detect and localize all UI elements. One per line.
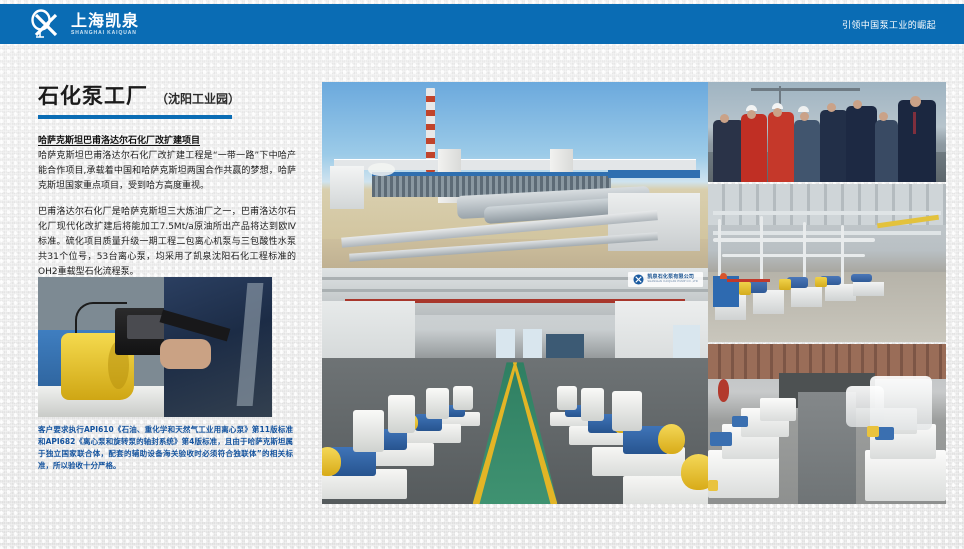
yellow-coupling-guard-shape [708, 480, 718, 491]
pump-column-shape [426, 388, 449, 419]
blue-motor-shape [851, 274, 872, 282]
roof-truss-shape [322, 289, 708, 292]
project-lead-heading: 哈萨克斯坦巴甫洛达尔石化厂改扩建项目 [38, 133, 296, 146]
gantry-beam-shape [751, 88, 860, 91]
body-paragraph-1: 哈萨克斯坦巴甫洛达尔石化厂改扩建工程是“一带一路”下中哈产能合作项目,承载着中国… [38, 149, 296, 194]
plastic-wrap-shape [846, 386, 884, 428]
person-figure [875, 120, 899, 182]
refinery-plant-photo[interactable] [322, 82, 708, 274]
horizontal-pipe-shape [713, 238, 875, 242]
pump-column-shape [353, 410, 384, 452]
watermark-text-en: SHANGHAI KAIQUAN PUMP CO.,LTD [647, 281, 698, 284]
title-underline-rule [38, 115, 232, 119]
yellow-coupling-guard-shape [815, 277, 827, 286]
pump-skid [825, 284, 856, 301]
page-title-main: 石化泵工厂 [38, 80, 148, 110]
window-shape [496, 329, 515, 357]
yellow-coupling-guard-shape [779, 279, 791, 290]
left-text-column: 石化泵工厂 （沈阳工业园） 哈萨克斯坦巴甫洛达尔石化厂改扩建项目 哈萨克斯坦巴甫… [38, 80, 296, 280]
probe-cable-shape [75, 302, 126, 333]
factory-assembly-line-photo[interactable]: 凯泉石化泵有限公司 SHANGHAI KAIQUAN PUMP CO.,LTD [322, 268, 708, 504]
silo-shape [330, 166, 365, 208]
ceiling-beam-shape [713, 211, 941, 215]
photo-caption-blue: 客户要求执行API610《石油、重化学和天然气工业用离心泵》第11版标准和API… [38, 424, 293, 472]
ceiling-beam-shape [713, 231, 941, 235]
person-head-shape [800, 112, 809, 121]
header-tagline: 引领中国泵工业的崛起 [842, 18, 936, 31]
brand-logo[interactable]: 上海凯泉 SHANGHAI KAIQUAN [30, 9, 139, 39]
kaiquan-watermark: 凯泉石化泵有限公司 SHANGHAI KAIQUAN PUMP CO.,LTD [628, 272, 703, 287]
far-wall-panel-shape [546, 334, 585, 358]
window-shape [523, 329, 542, 357]
body-paragraph-2: 巴甫洛达尔石化厂是哈萨克斯坦三大炼油厂之一，巴甫洛达尔石化厂现代化改扩建后将能加… [38, 205, 296, 280]
person-figure-red-uniform [741, 114, 767, 182]
slide-page: 上海凯泉 SHANGHAI KAIQUAN 引领中国泵工业的崛起 石化泵工厂 （… [0, 0, 964, 549]
person-head-shape [720, 114, 729, 123]
pump-installation-photo[interactable] [708, 184, 946, 342]
page-title-sub: （沈阳工业园） [156, 90, 240, 107]
blue-motor-shape [710, 432, 731, 446]
yellow-coupling-guard-shape [739, 282, 751, 295]
page-title: 石化泵工厂 （沈阳工业园） [38, 80, 296, 110]
yellow-coupling-guard-shape [867, 426, 879, 437]
necktie-shape [913, 112, 916, 134]
pump-column-shape [453, 386, 472, 410]
horizontal-pipe-shape [722, 254, 865, 257]
kaiquan-logo-icon [30, 9, 64, 39]
pump-column-shape [612, 391, 643, 431]
brand-name-cn: 上海凯泉 [71, 13, 139, 29]
person-figure-suit [898, 100, 936, 182]
pump-skid [753, 290, 784, 314]
yellow-coupling-guard-shape [681, 454, 708, 489]
pump-skid [853, 282, 884, 296]
person-figure [794, 120, 820, 182]
blue-roof-shape [608, 170, 701, 178]
yellow-coupling-guard-shape [658, 424, 685, 455]
red-valve-handwheel-shape [718, 379, 730, 401]
packaged-pumps-warehouse-photo[interactable] [708, 344, 946, 504]
person-figure [713, 120, 744, 182]
person-figure-red-uniform [768, 112, 794, 182]
person-head-shape [827, 103, 836, 112]
kaiquan-badge-icon [633, 274, 644, 285]
safety-helmet-icon [720, 273, 727, 279]
pump-column-shape [557, 386, 576, 410]
delegation-site-visit-photo[interactable] [708, 82, 946, 182]
blue-motor-shape [732, 416, 749, 427]
person-figure-suit [820, 110, 849, 182]
technician-vibration-test-photo[interactable] [38, 277, 272, 417]
page-header: 上海凯泉 SHANGHAI KAIQUAN 引领中国泵工业的崛起 [0, 4, 964, 44]
person-figure-suit [846, 106, 877, 182]
pump-skid [791, 287, 822, 308]
brand-name-en: SHANGHAI KAIQUAN [71, 31, 139, 36]
pump-unit [760, 398, 796, 420]
warning-tape-shape [727, 279, 770, 282]
pump-column-shape [388, 395, 415, 433]
pump-column-shape [581, 388, 604, 421]
worker-hand-shape [160, 339, 211, 370]
steam-plume-shape [368, 163, 395, 176]
